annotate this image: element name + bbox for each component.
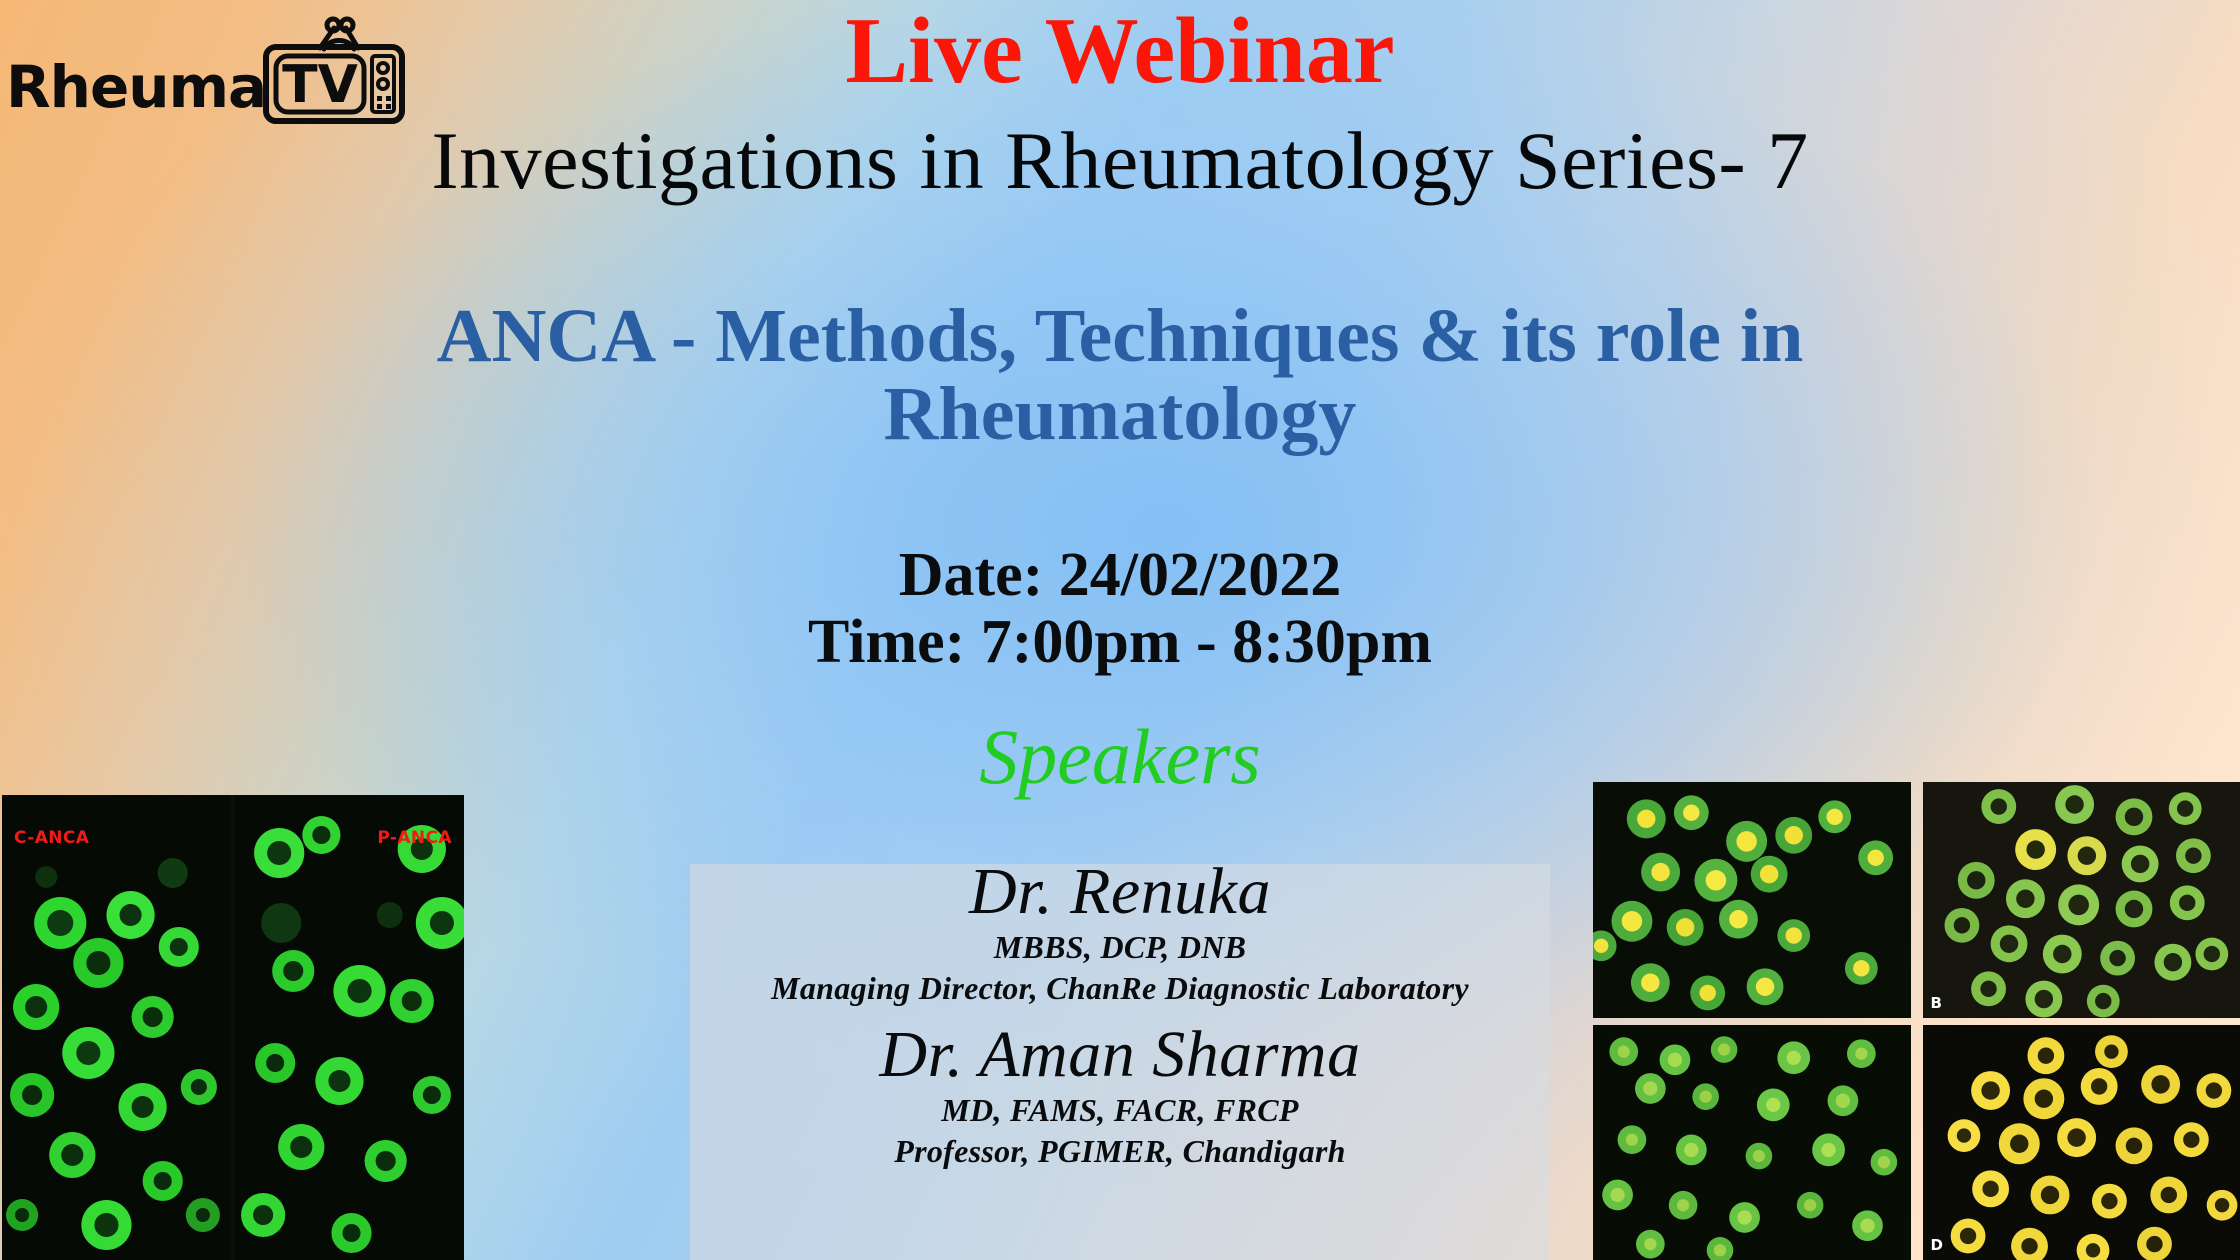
micrograph-c-image (1593, 1025, 1911, 1260)
speaker-credentials: MD, FAMS, FACR, FRCP (620, 1090, 1620, 1131)
speaker-entry: Dr. Aman Sharma MD, FAMS, FACR, FRCP Pro… (620, 1019, 1620, 1172)
date-line: Date: 24/02/2022 (0, 542, 2240, 609)
panca-label: P-ANCA (377, 828, 452, 848)
anca-immunofluorescence-figure-right: B (1593, 782, 2240, 1260)
micrograph-a-image (1593, 782, 1911, 1018)
micrograph-pane-a (1593, 782, 1911, 1018)
micrograph-b-image (1923, 782, 2240, 1018)
time-line: Time: 7:00pm - 8:30pm (0, 609, 2240, 676)
speaker-credentials: MBBS, DCP, DNB (620, 927, 1620, 968)
topic-title: ANCA - Methods, Techniques & its role in… (200, 298, 2040, 453)
micrograph-pane-c (1593, 1025, 1911, 1260)
panca-pane: P-ANCA (235, 795, 464, 1260)
speakers-list: Dr. Renuka MBBS, DCP, DNB Managing Direc… (620, 856, 1620, 1172)
webinar-poster: Rheuma (0, 0, 2240, 1260)
speaker-affiliation: Managing Director, ChanRe Diagnostic Lab… (620, 968, 1620, 1009)
speaker-affiliation: Professor, PGIMER, Chandigarh (620, 1131, 1620, 1172)
micrograph-label-d: D (1931, 1236, 1943, 1254)
canca-label: C-ANCA (14, 828, 89, 848)
micrograph-pane-b: B (1923, 782, 2240, 1018)
speaker-name: Dr. Renuka (620, 856, 1620, 927)
schedule-block: Date: 24/02/2022 Time: 7:00pm - 8:30pm (0, 542, 2240, 676)
micrograph-pane-d: D (1923, 1025, 2240, 1260)
canca-cells-image (2, 795, 231, 1260)
live-webinar-title: Live Webinar (0, 4, 2240, 98)
micrograph-label-b: B (1931, 994, 1942, 1012)
series-title: Investigations in Rheumatology Series- 7 (0, 118, 2240, 204)
anca-immunofluorescence-figure-left: C-ANCA (2, 795, 464, 1260)
speaker-name: Dr. Aman Sharma (620, 1019, 1620, 1090)
speaker-entry: Dr. Renuka MBBS, DCP, DNB Managing Direc… (620, 856, 1620, 1009)
micrograph-d-image (1923, 1025, 2240, 1260)
canca-pane: C-ANCA (2, 795, 231, 1260)
panca-cells-image (235, 795, 464, 1260)
